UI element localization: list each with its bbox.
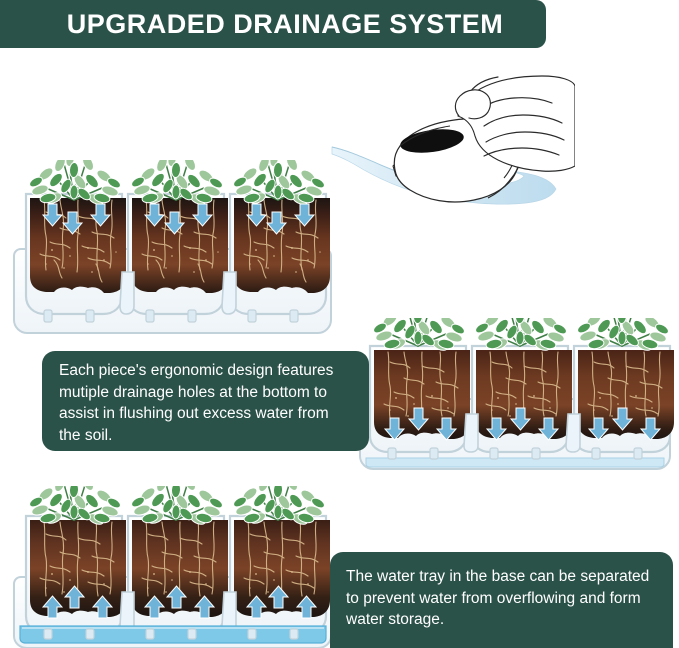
infographic-canvas: UPGRADED DRAINAGE SYSTEM <box>0 0 679 648</box>
water-film <box>366 458 664 467</box>
drainage-column-1 <box>120 272 134 314</box>
callout-1-line-2: mutiple drainage holes at the bottom to <box>59 382 355 404</box>
callout-2-line-3: water storage. <box>346 609 659 631</box>
page-title: UPGRADED DRAINAGE SYSTEM <box>43 9 504 40</box>
water-reservoir <box>20 626 326 643</box>
watering-can-illustration <box>330 70 575 245</box>
callout-2-line-1: The water tray in the base can be separa… <box>346 566 659 588</box>
header-banner: UPGRADED DRAINAGE SYSTEM <box>0 0 546 48</box>
drainage-column-1 <box>464 414 478 452</box>
callout-1-line-1: Each piece's ergonomic design features <box>59 360 355 382</box>
cell-group <box>26 160 330 322</box>
planter-tray-middle-right <box>356 318 674 473</box>
drainage-column-2 <box>566 414 580 452</box>
callout-1-line-4: the soil. <box>59 425 355 447</box>
cell-group <box>366 318 674 467</box>
planter-tray-bottom-left <box>10 486 335 648</box>
cell-group <box>20 486 330 643</box>
callout-2-line-2: to prevent water from overflowing and fo… <box>346 588 659 610</box>
drainage-column-2 <box>222 272 236 314</box>
callout-1-line-3: assist in flushing out excess water from <box>59 403 355 425</box>
callout-water-tray: The water tray in the base can be separa… <box>330 552 673 648</box>
planter-tray-top-left <box>10 160 335 340</box>
callout-drainage-holes: Each piece's ergonomic design features m… <box>42 351 369 451</box>
